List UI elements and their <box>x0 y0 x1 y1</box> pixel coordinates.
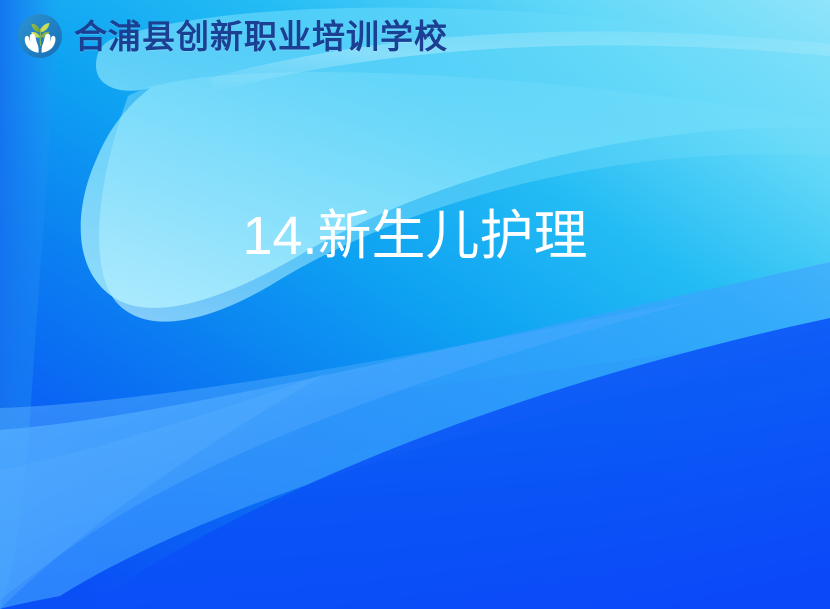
slide-title-block: 14.新生儿护理 <box>0 205 830 267</box>
presentation-slide: 合浦县创新职业培训学校 14.新生儿护理 <box>0 0 830 609</box>
mid-dark-arc <box>0 328 830 556</box>
slide-title-text: 14.新生儿护理 <box>242 205 587 267</box>
left-edge-band <box>0 0 62 609</box>
slide-background-decoration <box>0 0 830 609</box>
bottom-deep-wedge <box>86 318 830 609</box>
school-name-title: 合浦县创新职业培训学校 <box>74 20 448 53</box>
bottom-left-sliver <box>0 372 330 609</box>
lower-light-band-secondary <box>0 300 700 600</box>
top-swoosh-inner <box>99 72 830 322</box>
lower-light-band <box>0 262 830 609</box>
background-base <box>0 0 830 609</box>
hands-holding-sprout-icon <box>16 12 64 60</box>
school-logo <box>16 12 64 60</box>
slide-header: 合浦县创新职业培训学校 <box>0 0 830 72</box>
